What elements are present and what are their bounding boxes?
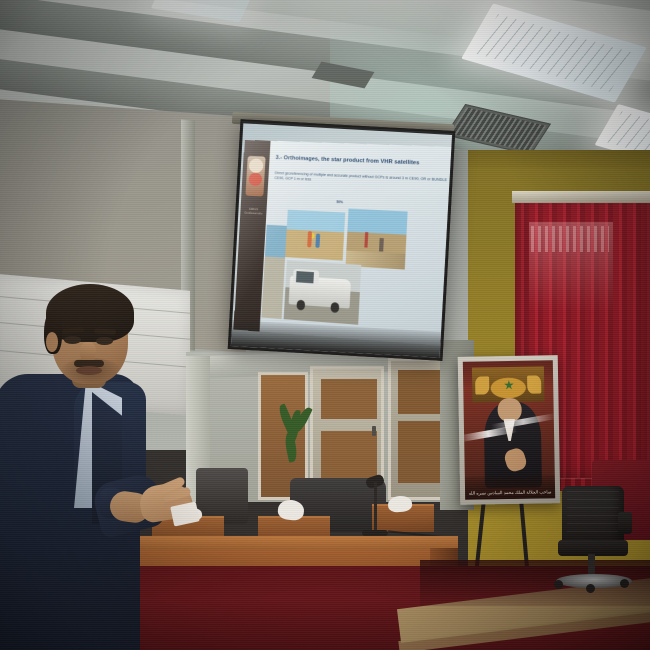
potted-plant — [280, 404, 314, 474]
blinds-valance — [512, 191, 650, 203]
framed-royal-portrait: صاحب الجلالة الملك محمد السادس نصره الله — [458, 355, 561, 505]
slide-photo-left-strip — [261, 225, 287, 319]
door-handle-icon[interactable] — [372, 426, 376, 436]
microphone-stand — [374, 482, 377, 534]
photo-scene: SIRIUS GeoDesarrollo 3.- Orthoimages, th… — [0, 0, 650, 650]
speaker-eyebrow — [94, 328, 116, 334]
slide-sidebar-caption: SIRIUS GeoDesarrollo — [242, 207, 264, 215]
slide-photo-white-pickup — [284, 260, 362, 324]
presentation-slide: SIRIUS GeoDesarrollo 3.- Orthoimages, th… — [234, 140, 453, 347]
projection-screen: SIRIUS GeoDesarrollo 3.- Orthoimages, th… — [228, 119, 456, 361]
screen-surface: SIRIUS GeoDesarrollo 3.- Orthoimages, th… — [231, 123, 452, 357]
slide-body-text: Direct georeferencing of multiple and ac… — [274, 171, 450, 189]
speaker-person — [0, 296, 200, 650]
window-bars — [531, 226, 609, 252]
portrait-image: صاحب الجلالة الملك محمد السادس نصره الله — [463, 360, 555, 500]
slide-percent-label: 50% — [336, 200, 343, 204]
paper-sheet — [170, 502, 200, 527]
speaker-eye — [96, 337, 113, 345]
office-chair-armrest[interactable] — [618, 512, 632, 534]
speaker-ear — [46, 332, 58, 352]
slide-title: 3.- Orthoimages, the star product from V… — [275, 155, 452, 168]
office-chair-back[interactable] — [562, 486, 624, 544]
speaker-mouth — [76, 366, 102, 375]
speaker-eye — [64, 336, 81, 344]
slide-photo-beach-figures — [346, 209, 408, 270]
office-chair-base — [556, 574, 632, 588]
portrait-subject-face — [498, 398, 522, 422]
company-logo-icon — [245, 156, 265, 197]
slide-photo-people-dunes — [285, 210, 345, 261]
